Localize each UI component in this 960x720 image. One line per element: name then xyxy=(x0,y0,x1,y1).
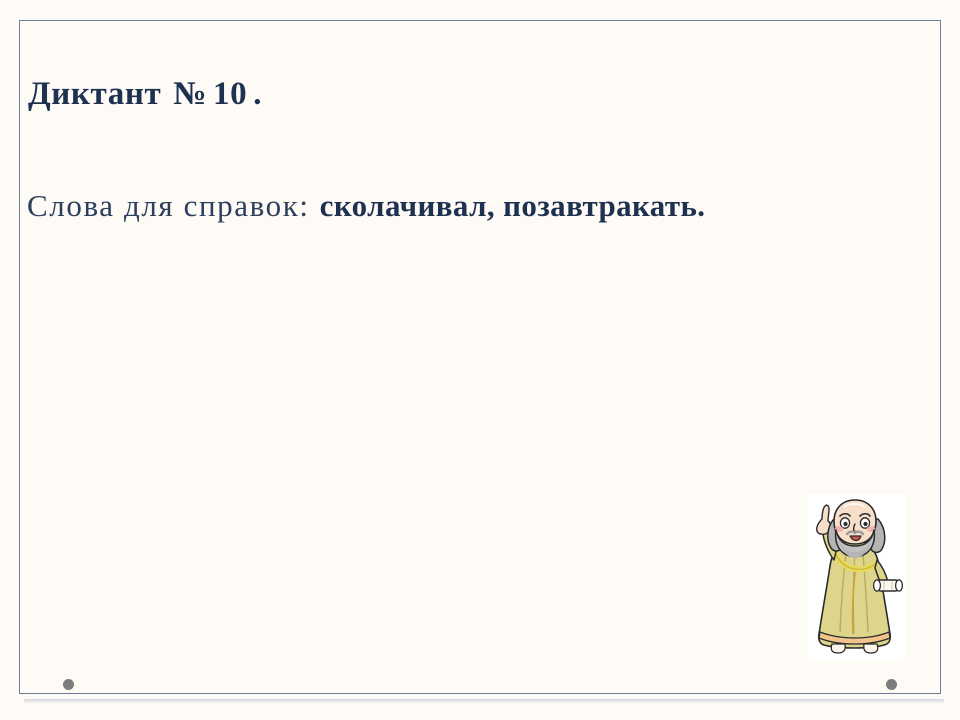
slide-content: Диктант№10. Слова для справок:сколачивал… xyxy=(0,0,960,720)
slide-canvas: Диктант№10. Слова для справок:сколачивал… xyxy=(0,0,960,720)
bullet-dot-right-icon xyxy=(886,679,897,690)
reference-words-label: Слова для справок: xyxy=(27,188,310,223)
philosopher-illustration xyxy=(808,494,905,660)
reference-words-values: сколачивал, позавтракать. xyxy=(310,188,706,223)
title-number: 10 xyxy=(207,76,247,112)
reference-words-line: Слова для справок:сколачивал, позавтрака… xyxy=(27,188,705,224)
slide-title: Диктант№10. xyxy=(28,76,262,113)
socrates-philosopher-clipart xyxy=(808,494,905,660)
title-period: . xyxy=(247,76,262,112)
title-number-sign: № xyxy=(161,76,207,112)
title-word: Диктант xyxy=(28,76,161,112)
bullet-dot-left-icon xyxy=(63,679,74,690)
